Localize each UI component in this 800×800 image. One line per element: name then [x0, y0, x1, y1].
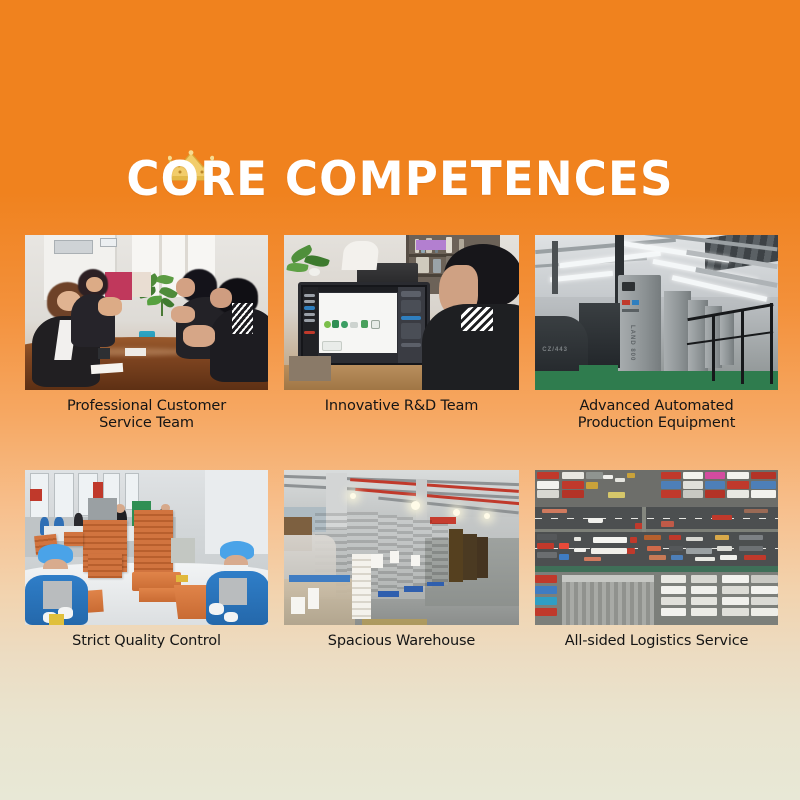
card-caption: Spacious Warehouse: [284, 633, 519, 650]
competence-card-innovative-rd-team[interactable]: Innovative R&D Team: [284, 235, 519, 432]
card-caption: All-sided Logistics Service: [535, 633, 778, 650]
rd-designer-photo: [284, 235, 519, 390]
competence-card-all-sided-logistics-service[interactable]: All-sided Logistics Service: [535, 470, 778, 650]
card-caption: Innovative R&D Team: [284, 398, 519, 415]
quality-control-photo: [25, 470, 268, 625]
card-caption: Advanced Automated Production Equipment: [535, 398, 778, 432]
competence-card-strict-quality-control[interactable]: Strict Quality Control: [25, 470, 268, 650]
warehouse-photo: [284, 470, 519, 625]
competences-grid: Professional Customer Service Team: [25, 235, 778, 650]
meeting-room-photo: [25, 235, 268, 390]
printing-press-photo: LAND 800 CZ/443: [535, 235, 778, 390]
page-title-block: CORE COMPETENCES: [0, 152, 800, 208]
card-caption: Strict Quality Control: [25, 633, 268, 650]
card-caption: Professional Customer Service Team: [25, 398, 268, 432]
competence-card-advanced-automated-production-equipment[interactable]: LAND 800 CZ/443 Advanced Automated Produ…: [535, 235, 778, 432]
competence-card-professional-customer-service-team[interactable]: Professional Customer Service Team: [25, 235, 268, 432]
logistics-port-photo: [535, 470, 778, 625]
competence-card-spacious-warehouse[interactable]: Spacious Warehouse: [284, 470, 519, 650]
page-title: CORE COMPETENCES: [126, 152, 673, 208]
